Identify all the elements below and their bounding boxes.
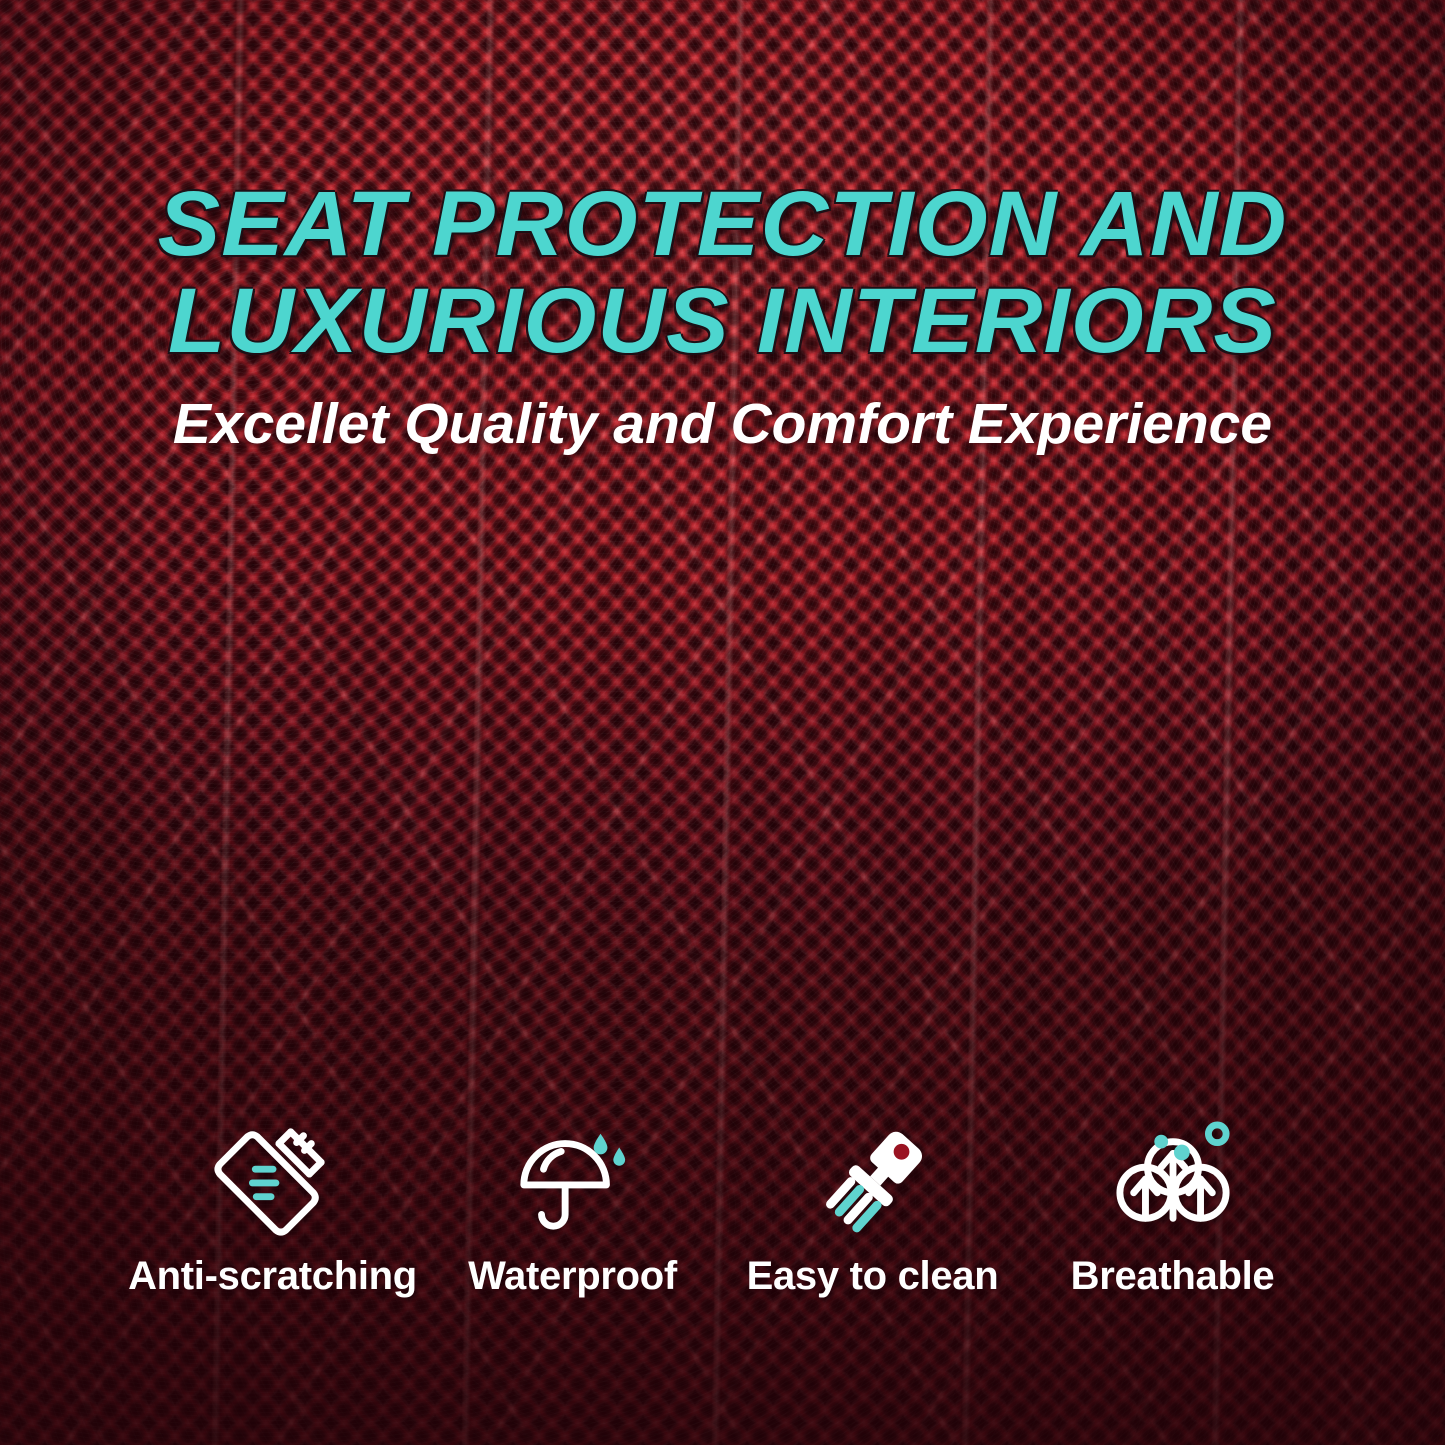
headline-block: SEAT PROTECTION AND LUXURIOUS INTERIORS … (0, 176, 1445, 457)
feature-label: Breathable (1071, 1254, 1275, 1299)
page-title: SEAT PROTECTION AND LUXURIOUS INTERIORS (26, 176, 1418, 369)
airflow-cloud-arrows-icon (1114, 1120, 1232, 1238)
headline-line-1: SEAT PROTECTION AND (158, 173, 1288, 275)
feature-label: Anti-scratching (128, 1254, 417, 1299)
headline-line-2: LUXURIOUS INTERIORS (26, 273, 1418, 370)
umbrella-raindrops-icon (514, 1120, 632, 1238)
feature-item-easy-to-clean: Easy to clean (723, 1120, 1023, 1299)
feature-item-breathable: Breathable (1023, 1120, 1323, 1299)
diamond-pencil-icon (214, 1120, 332, 1238)
feature-list: Anti-scratching Waterproof (0, 1120, 1445, 1299)
feature-label: Waterproof (468, 1254, 677, 1299)
feature-item-anti-scratching: Anti-scratching (123, 1120, 423, 1299)
product-feature-banner: SEAT PROTECTION AND LUXURIOUS INTERIORS … (0, 0, 1445, 1445)
feature-label: Easy to clean (747, 1254, 999, 1299)
page-subtitle: Excellet Quality and Comfort Experience (40, 391, 1405, 457)
feature-item-waterproof: Waterproof (423, 1120, 723, 1299)
scrub-brush-icon (814, 1120, 932, 1238)
